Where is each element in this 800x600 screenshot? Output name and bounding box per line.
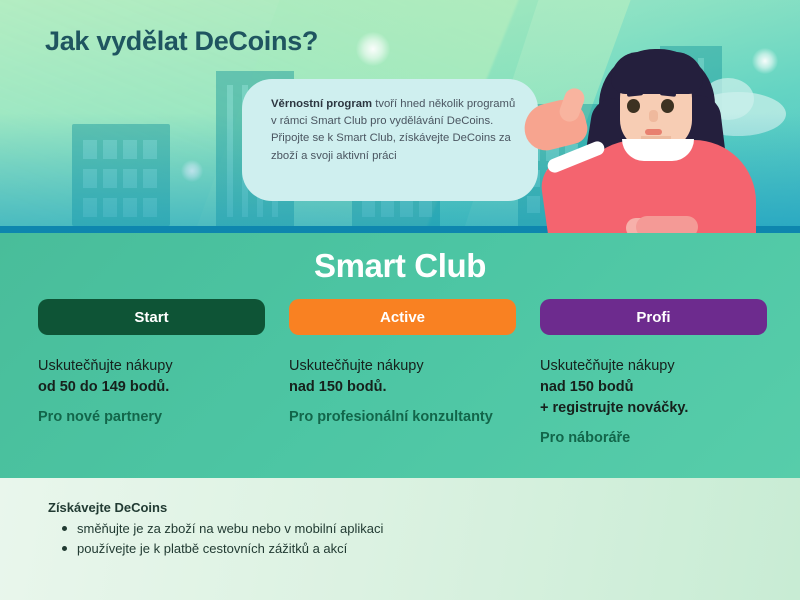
tier-description: Uskutečňujte nákupy nad 150 bodů + regis… (540, 356, 767, 419)
tier-note: Pro nové partnery (38, 407, 265, 428)
page-title: Jak vydělat DeCoins? (45, 26, 318, 57)
speech-bubble: Věrnostní program tvoří hned několik pro… (242, 79, 538, 201)
nose-shape (649, 110, 658, 122)
eye-icon (661, 99, 674, 113)
tier-note: Pro profesionální konzultanty (289, 407, 516, 428)
speech-bubble-text: Věrnostní program tvoří hned několik pro… (271, 96, 516, 165)
footer-list: směňujte je za zboží na webu nebo v mobi… (52, 519, 383, 559)
eye-icon (627, 99, 640, 113)
tier-description: Uskutečňujte nákupy od 50 do 149 bodů. (38, 356, 265, 398)
tier-line: Uskutečňujte nákupy (540, 356, 767, 377)
list-item: směňujte je za zboží na webu nebo v mobi… (52, 519, 383, 539)
tier-badge-profi[interactable]: Profi (540, 299, 767, 335)
bullet-icon (62, 546, 67, 551)
tier-line: Uskutečňujte nákupy (289, 356, 516, 377)
list-item: používejte je k platbě cestovních zážitk… (52, 539, 383, 559)
woman-illustration (548, 40, 800, 233)
infographic-root: Jak vydělat DeCoins? Věrnostní program t… (0, 0, 800, 600)
tier-card-start[interactable]: Start Uskutečňujte nákupy od 50 do 149 b… (38, 299, 265, 428)
tier-description: Uskutečňujte nákupy nad 150 bodů. (289, 356, 516, 398)
tier-card-active[interactable]: Active Uskutečňujte nákupy nad 150 bodů.… (289, 299, 516, 428)
tier-line: + registrujte nováčky. (540, 398, 767, 419)
bokeh-light (356, 32, 390, 66)
tier-badge-start[interactable]: Start (38, 299, 265, 335)
tier-card-profi[interactable]: Profi Uskutečňujte nákupy nad 150 bodů +… (540, 299, 767, 449)
tier-line: nad 150 bodů (540, 377, 767, 398)
collar-shape (622, 139, 694, 161)
tier-badge-active[interactable]: Active (289, 299, 516, 335)
tier-line: od 50 do 149 bodů. (38, 377, 265, 398)
mouth-shape (645, 129, 662, 135)
tier-line: Uskutečňujte nákupy (38, 356, 265, 377)
tier-note: Pro náboráře (540, 428, 767, 449)
bullet-icon (62, 526, 67, 531)
footer-heading: Získávejte DeCoins (48, 500, 167, 515)
list-item-label: směňujte je za zboží na webu nebo v mobi… (77, 519, 383, 539)
tier-line: nad 150 bodů. (289, 377, 516, 398)
hair-fringe-icon (611, 52, 703, 94)
list-item-label: používejte je k platbě cestovních zážitk… (77, 539, 347, 559)
section-title: Smart Club (0, 247, 800, 285)
speech-bubble-lead: Věrnostní program (271, 98, 372, 110)
